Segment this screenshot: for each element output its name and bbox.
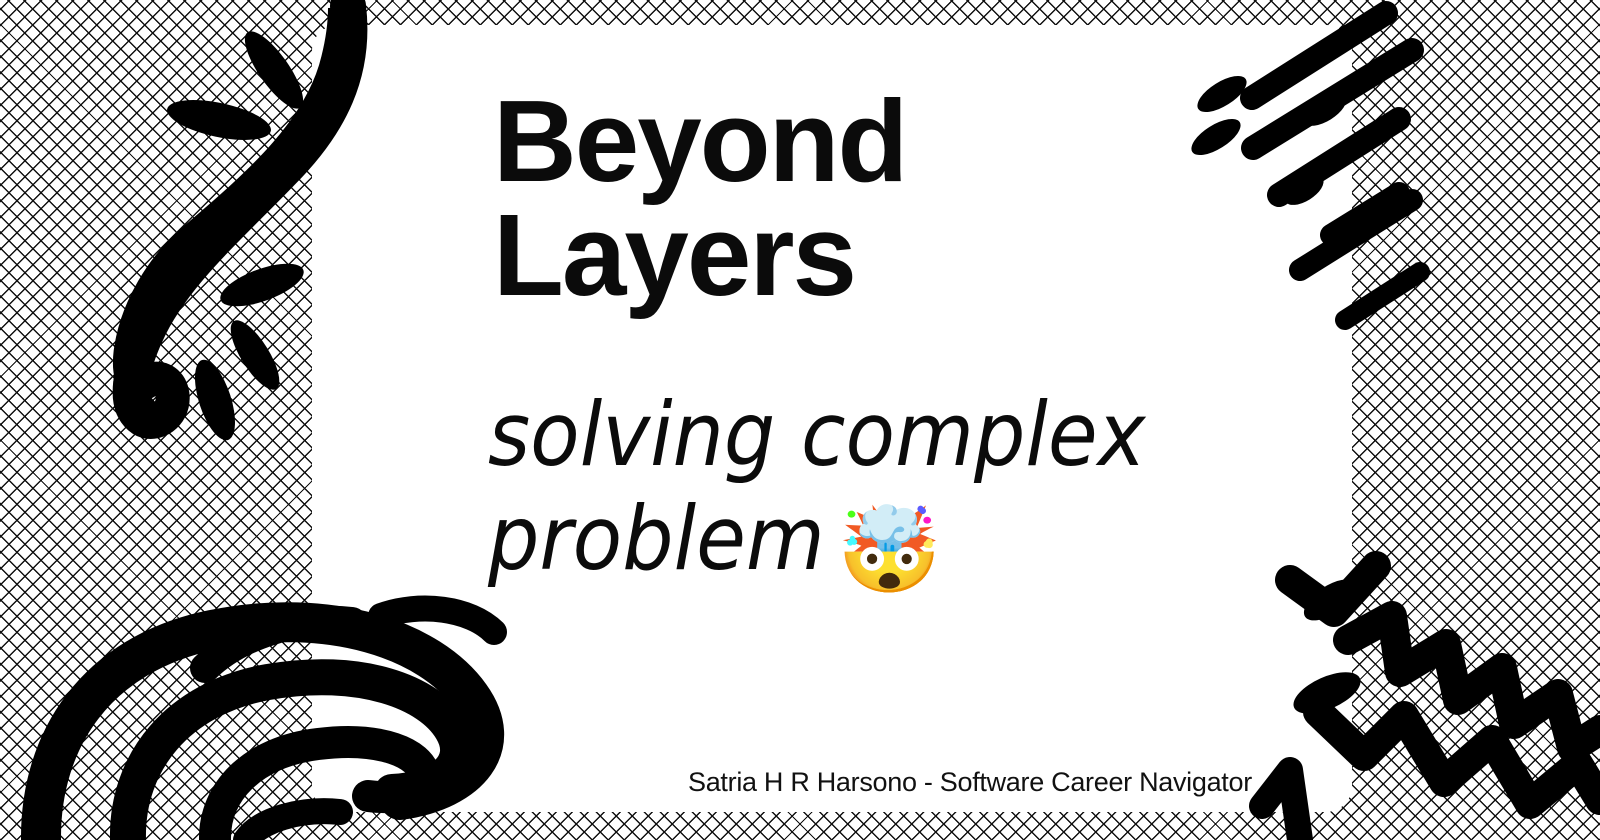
exploding-head-emoji: 🤯 <box>837 501 942 600</box>
slide-subtitle: solving complex problem🤯 <box>488 383 1206 591</box>
slide-title: Beyond Layers <box>493 85 906 312</box>
slide-footer-attribution: Satria H R Harsono - Software Career Nav… <box>688 767 1252 798</box>
presentation-slide: Beyond Layers solving complex problem🤯 S… <box>0 0 1600 840</box>
slide-content: Beyond Layers solving complex problem🤯 S… <box>312 25 1352 812</box>
subtitle-line-1: solving complex <box>488 383 1146 486</box>
subtitle-line-2: problem <box>488 487 825 590</box>
